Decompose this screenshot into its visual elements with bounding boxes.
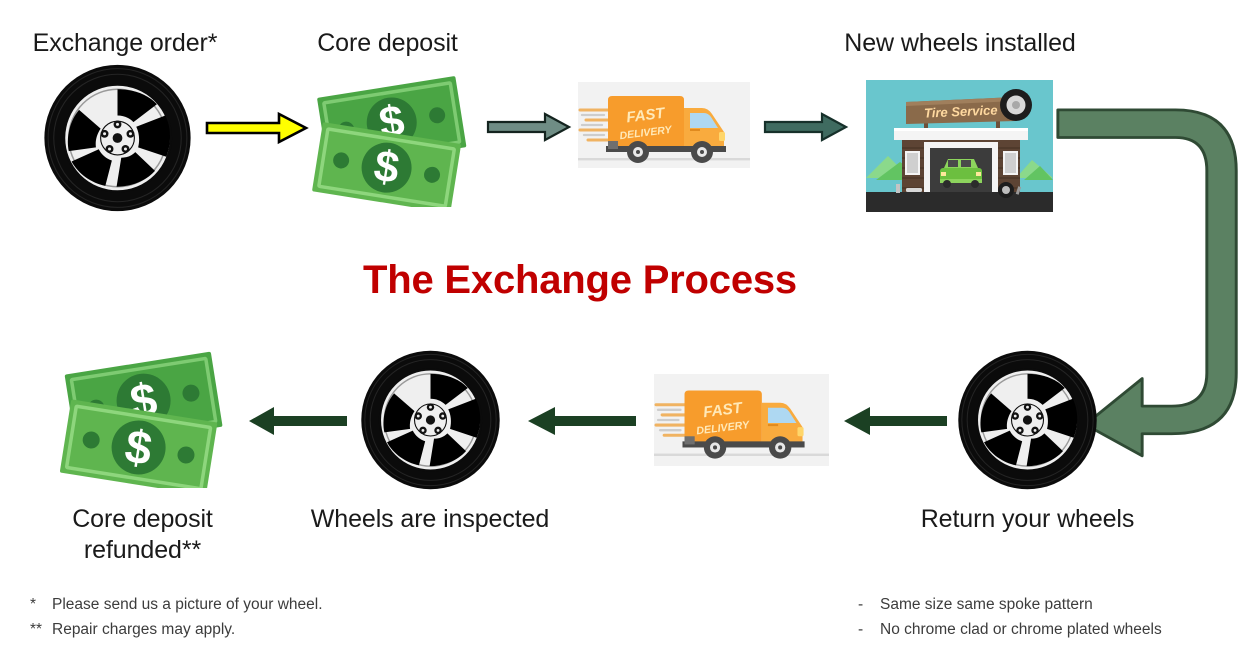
arrow-slate-shipping-to-install bbox=[764, 112, 848, 142]
delivery-truck-icon-inbound: FAST DELIVERY bbox=[654, 374, 829, 466]
arrow-slate-deposit-to-shipping bbox=[487, 112, 571, 142]
footnotes-left: *Please send us a picture of your wheel.… bbox=[30, 592, 323, 642]
exchange-process-diagram: Exchange order* bbox=[0, 0, 1250, 666]
requirement-text: No chrome clad or chrome plated wheels bbox=[880, 621, 1162, 638]
footnote-text: Please send us a picture of your wheel. bbox=[52, 596, 323, 613]
step-label-core-deposit-refunded: Core deposit refunded** bbox=[35, 504, 250, 565]
wheel-icon-exchange-order bbox=[40, 63, 195, 213]
requirement-text: Same size same spoke pattern bbox=[880, 596, 1093, 613]
shop-sign-text: Tire Service bbox=[924, 102, 998, 120]
arrow-green-inspected-to-refund bbox=[248, 405, 348, 437]
step-label-return-your-wheels: Return your wheels bbox=[890, 504, 1165, 535]
footnote-marker: * bbox=[30, 592, 52, 617]
step-label-wheels-inspected: Wheels are inspected bbox=[285, 504, 575, 535]
footnote-item: **Repair charges may apply. bbox=[30, 617, 323, 642]
requirement-marker: - bbox=[858, 617, 880, 642]
footnote-text: Repair charges may apply. bbox=[52, 621, 235, 638]
requirement-item: -Same size same spoke pattern bbox=[858, 592, 1162, 617]
footnotes-right: -Same size same spoke pattern -No chrome… bbox=[858, 592, 1162, 642]
wheel-icon-inspected bbox=[358, 349, 503, 491]
refund-label-line2: refunded** bbox=[35, 535, 250, 566]
arrow-green-shipping-to-inspected bbox=[527, 405, 637, 437]
tire-service-shop-icon: Tire Service bbox=[866, 80, 1053, 212]
money-icon-deposit-refunded: $ $ bbox=[58, 348, 238, 488]
wheel-icon-return bbox=[955, 349, 1100, 491]
refund-label-line1: Core deposit bbox=[35, 504, 250, 535]
requirement-item: -No chrome clad or chrome plated wheels bbox=[858, 617, 1162, 642]
footnote-item: *Please send us a picture of your wheel. bbox=[30, 592, 323, 617]
money-icon-core-deposit: $ $ bbox=[310, 72, 480, 207]
step-label-exchange-order: Exchange order* bbox=[0, 28, 250, 59]
step-label-new-wheels-installed: New wheels installed bbox=[800, 28, 1120, 59]
footnote-marker: ** bbox=[30, 617, 52, 642]
requirement-marker: - bbox=[858, 592, 880, 617]
step-label-core-deposit: Core deposit bbox=[280, 28, 495, 59]
arrow-yellow-order-to-deposit bbox=[205, 112, 308, 144]
delivery-truck-icon-outbound: FAST DELIVERY bbox=[578, 82, 750, 168]
page-title: The Exchange Process bbox=[0, 258, 1160, 303]
arrow-green-return-to-shipping bbox=[843, 405, 948, 437]
